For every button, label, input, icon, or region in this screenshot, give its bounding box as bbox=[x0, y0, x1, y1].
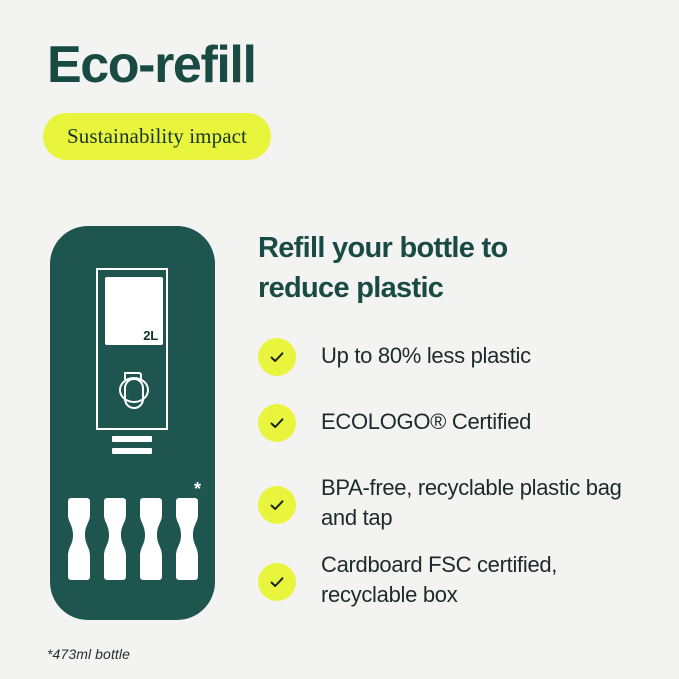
equals-icon bbox=[112, 436, 152, 456]
list-item: BPA-free, recyclable plastic bag and tap bbox=[258, 470, 658, 533]
bottle-silhouette-icon bbox=[64, 496, 94, 582]
bottle-group bbox=[64, 496, 202, 582]
badge-label: Sustainability impact bbox=[67, 124, 247, 149]
footnote: *473ml bottle bbox=[47, 646, 130, 662]
feature-label: Cardboard FSC certified, recyclable box bbox=[321, 547, 658, 610]
page-title: Eco-refill bbox=[47, 36, 256, 94]
sustainability-impact-badge: Sustainability impact bbox=[43, 113, 271, 160]
main-headline: Refill your bottle to reduce plastic bbox=[258, 228, 598, 308]
equals-bar-top bbox=[112, 436, 152, 442]
feature-label: BPA-free, recyclable plastic bag and tap bbox=[321, 470, 658, 533]
check-icon bbox=[258, 338, 296, 376]
check-icon bbox=[258, 404, 296, 442]
feature-list: Up to 80% less plastic ECOLOGO® Certifie… bbox=[258, 338, 658, 624]
feature-label: ECOLOGO® Certified bbox=[321, 404, 531, 437]
list-item: Cardboard FSC certified, recyclable box bbox=[258, 547, 658, 610]
list-item: Up to 80% less plastic bbox=[258, 338, 658, 382]
bottle-silhouette-icon bbox=[136, 496, 166, 582]
list-item: ECOLOGO® Certified bbox=[258, 404, 658, 448]
bottle-silhouette-icon bbox=[100, 496, 130, 582]
feature-label: Up to 80% less plastic bbox=[321, 338, 531, 371]
refill-pack-icon: 2L bbox=[96, 268, 168, 430]
check-icon bbox=[258, 563, 296, 601]
bottle-silhouette-icon bbox=[172, 496, 202, 582]
check-icon bbox=[258, 486, 296, 524]
equals-bar-bottom bbox=[112, 448, 152, 454]
refill-pack-label-area: 2L bbox=[105, 277, 163, 345]
tap-spout-icon bbox=[112, 362, 156, 410]
illustration-panel: 2L * bbox=[50, 226, 215, 620]
pack-volume-label: 2L bbox=[143, 328, 158, 343]
eco-refill-infographic: Eco-refill Sustainability impact 2L * bbox=[0, 0, 679, 679]
